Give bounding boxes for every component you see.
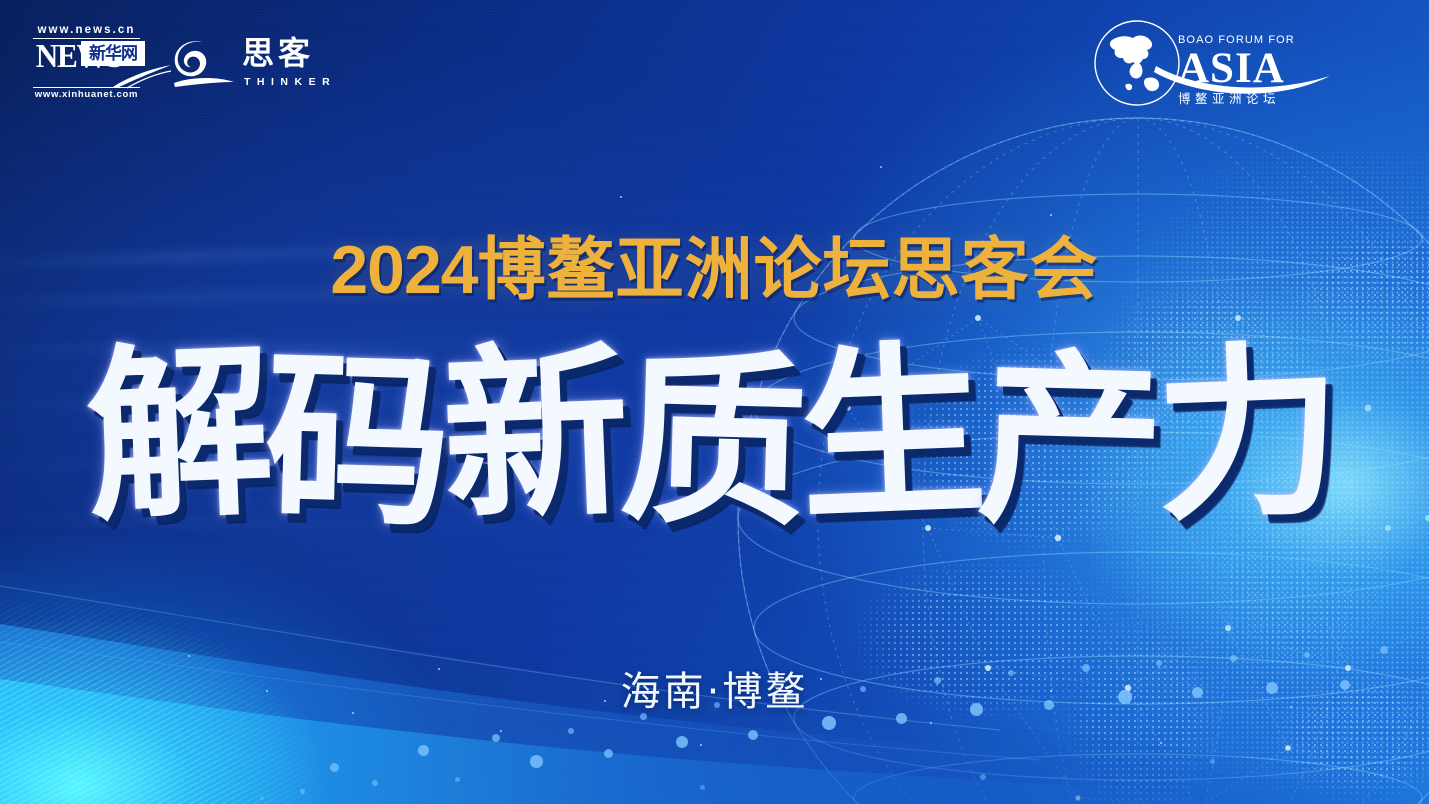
event-title-text: 博鳌亚洲论坛思客会 [478,231,1099,310]
headline-char-2: 新 [439,327,633,544]
event-location: 海南·博鳌 [0,669,1429,715]
headline-char-3: 质 [619,334,811,549]
logo-bar: www.news.cn NEWS 新华网 www.xinhuanet.com 思… [0,0,1429,130]
thinker-chinese-text: 思客 [242,34,314,72]
event-title-year: 2024 [330,232,477,308]
boao-forum-for-asia-logo[interactable]: BOAO FORUM FOR ASIA 博鳌亚洲论坛 [1092,18,1322,122]
headline-char-5: 产 [975,334,1167,549]
xinhua-bottom-url: www.xinhuanet.com [33,87,140,101]
event-title: 2024博鳌亚洲论坛思客会 [0,231,1429,310]
main-headline: 解码新质生产力 [0,334,1429,564]
headline-char-4: 生 [795,327,989,544]
headline-char-0: 解 [83,327,277,544]
thinker-wave-icon [172,38,236,88]
poster-canvas: www.news.cn NEWS 新华网 www.xinhuanet.com 思… [0,0,1429,804]
thinker-english-text: THINKER [244,76,336,88]
xinhua-net-logo[interactable]: www.news.cn NEWS 新华网 www.xinhuanet.com [33,24,143,102]
headline-char-6: 力 [1151,327,1345,544]
headline-char-1: 码 [262,334,454,549]
boao-swoosh-icon [1154,60,1332,100]
thinker-logo[interactable]: 思客 THINKER [172,36,312,98]
xinhua-top-url: www.news.cn [33,24,140,39]
xinhua-swoosh-icon [111,63,173,89]
xinhua-wordmark: NEWS 新华网 [33,39,143,87]
